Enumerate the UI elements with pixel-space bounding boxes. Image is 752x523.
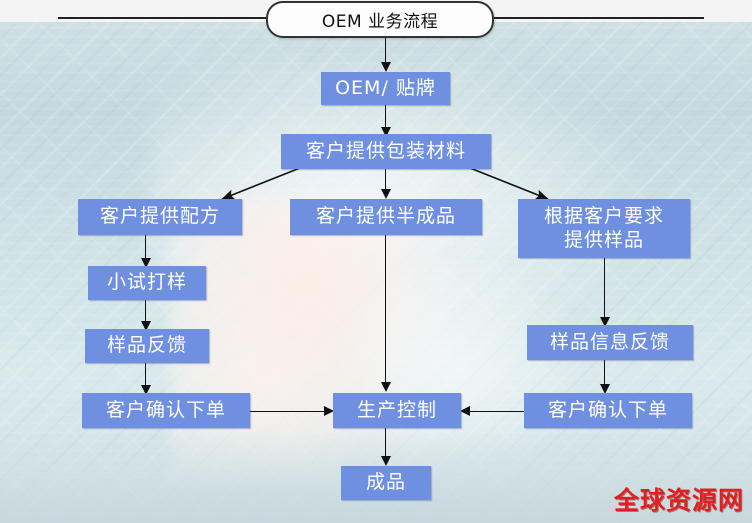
node-sample-info-feedback[interactable]: 样品信息反馈: [527, 325, 693, 360]
arrowhead-confirmorderright-to-production: [460, 406, 470, 416]
page-title: OEM 业务流程: [266, 1, 494, 38]
node-sample-per-customer-request[interactable]: 根据客户要求 提供样品: [518, 199, 690, 258]
node-oem-label[interactable]: OEM/ 贴牌: [321, 72, 450, 105]
node-production-control[interactable]: 生产控制: [333, 393, 461, 428]
node-confirm-order-right[interactable]: 客户确认下单: [524, 393, 692, 428]
node-confirm-order-left[interactable]: 客户确认下单: [82, 393, 250, 428]
site-watermark: 全球资源网: [614, 481, 744, 517]
connector-confirmorderleft-to-production: [250, 411, 326, 412]
connector-confirmorderright-to-production: [464, 411, 524, 412]
connector-semifinished-to-production: [385, 235, 386, 390]
title-rule-right: [488, 17, 704, 19]
connector-samplerequest-to-sampleinfo: [604, 258, 605, 325]
node-sample-request-line2: 提供样品: [564, 229, 644, 253]
node-customer-provides-packaging[interactable]: 客户提供包装材料: [281, 134, 491, 169]
arrowhead-packaging-to-semifinished: [381, 189, 391, 199]
node-trial-sample[interactable]: 小试打样: [88, 266, 206, 300]
node-customer-provides-formula[interactable]: 客户提供配方: [78, 199, 242, 235]
title-rule-left: [58, 17, 270, 19]
flowchart-canvas: OEM 业务流程 OEM/ 贴牌 客户提供包装材料 客户提供配方 客户提供半成品…: [0, 0, 752, 523]
node-sample-request-line1: 根据客户要求: [544, 205, 664, 229]
arrowhead-production-to-finished: [381, 456, 391, 466]
arrowhead-title-to-oem: [381, 62, 391, 72]
node-finished-goods[interactable]: 成品: [341, 466, 431, 500]
node-sample-feedback[interactable]: 样品反馈: [85, 329, 209, 363]
arrowhead-semifinished-to-production: [381, 382, 391, 392]
node-customer-provides-semifinished[interactable]: 客户提供半成品: [290, 199, 482, 235]
